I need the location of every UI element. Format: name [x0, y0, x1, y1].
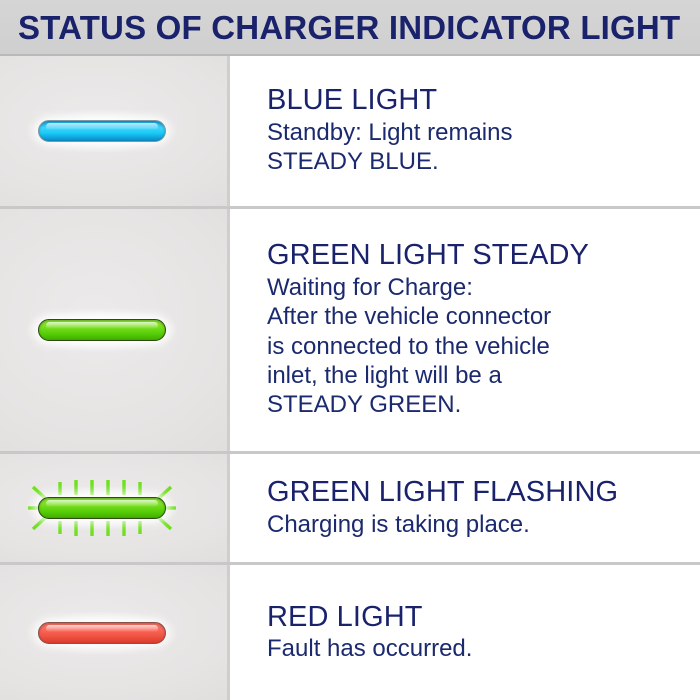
led-pill-green-flashing: [38, 497, 166, 519]
description-cell: BLUE LIGHT Standby: Light remains STEADY…: [230, 56, 700, 206]
row-description: Charging is taking place.: [267, 510, 700, 539]
table-row: BLUE LIGHT Standby: Light remains STEADY…: [0, 56, 700, 209]
green-flashing-indicator-light: [22, 476, 182, 540]
description-cell: GREEN LIGHT FLASHING Charging is taking …: [230, 454, 700, 562]
description-line: Charging is taking place.: [267, 510, 700, 539]
page-title: STATUS OF CHARGER INDICATOR LIGHT: [18, 11, 680, 44]
table-row: GREEN LIGHT FLASHING Charging is taking …: [0, 454, 700, 565]
table-row: GREEN LIGHT STEADY Waiting for Charge: A…: [0, 209, 700, 454]
green-steady-indicator-light: [22, 298, 182, 362]
row-heading: BLUE LIGHT: [267, 85, 700, 116]
description-line: Standby: Light remains: [267, 118, 700, 147]
indicator-cell: [0, 454, 230, 562]
charger-indicator-status-chart: STATUS OF CHARGER INDICATOR LIGHT BLUE L…: [0, 0, 700, 700]
red-indicator-light: [22, 601, 182, 665]
row-description: Fault has occurred.: [267, 634, 700, 663]
led-pill-green: [38, 319, 166, 341]
blue-indicator-light: [22, 99, 182, 163]
description-line: Waiting for Charge:: [267, 273, 700, 302]
description-cell: GREEN LIGHT STEADY Waiting for Charge: A…: [230, 209, 700, 451]
description-line: STEADY GREEN.: [267, 390, 700, 419]
description-line: Fault has occurred.: [267, 634, 700, 663]
description-line: is connected to the vehicle: [267, 332, 700, 361]
row-description: Standby: Light remains STEADY BLUE.: [267, 118, 700, 177]
led-pill-red: [38, 622, 166, 644]
row-heading: RED LIGHT: [267, 602, 700, 633]
chart-header: STATUS OF CHARGER INDICATOR LIGHT: [0, 0, 700, 56]
table-row: RED LIGHT Fault has occurred.: [0, 565, 700, 700]
row-heading: GREEN LIGHT STEADY: [267, 240, 700, 271]
indicator-cell: [0, 56, 230, 206]
led-pill-blue: [38, 120, 166, 142]
indicator-cell: [0, 209, 230, 451]
description-line: After the vehicle connector: [267, 302, 700, 331]
row-heading: GREEN LIGHT FLASHING: [267, 477, 700, 508]
indicator-cell: [0, 565, 230, 700]
description-line: inlet, the light will be a: [267, 361, 700, 390]
description-cell: RED LIGHT Fault has occurred.: [230, 565, 700, 700]
row-description: Waiting for Charge: After the vehicle co…: [267, 273, 700, 419]
status-table: BLUE LIGHT Standby: Light remains STEADY…: [0, 56, 700, 700]
description-line: STEADY BLUE.: [267, 147, 700, 176]
